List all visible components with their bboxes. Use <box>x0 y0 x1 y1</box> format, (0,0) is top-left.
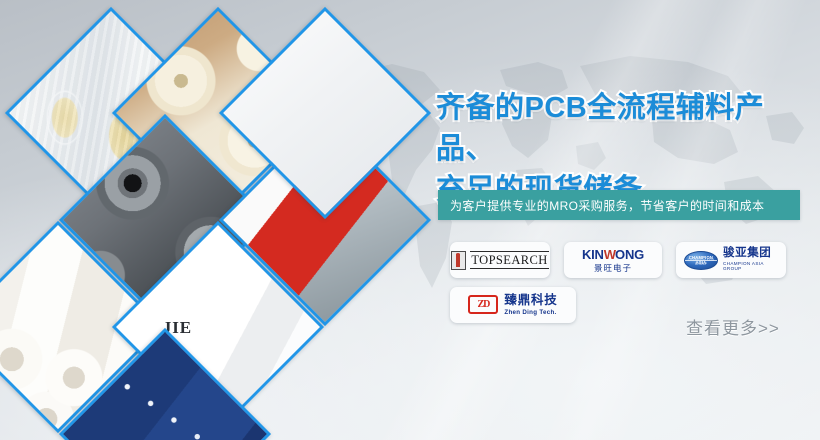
kinwong-chinese-name: 景旺电子 <box>582 264 644 273</box>
promo-banner: 齐备的PCB全流程辅料产品、 充足的现货储备 为客户提供专业的MRO采购服务，节… <box>0 0 820 440</box>
zhen-ding-mark-icon: ZD <box>468 295 498 314</box>
headline-line-1: 齐备的PCB全流程辅料产品、 <box>436 92 764 165</box>
banner-subtitle-text: 为客户提供专业的MRO采购服务，节省客户的时间和成本 <box>438 197 764 214</box>
globe-icon-bottom-text: CHAMPION ASIA GROUP <box>685 258 717 266</box>
zhen-ding-english-name: Zhen Ding Tech. <box>504 310 557 316</box>
kinwong-wordmark: KINWONG <box>582 248 644 261</box>
topsearch-mark-icon <box>451 251 466 270</box>
partner-logo-row-1: TOPSEARCH KINWONG 景旺电子 CHAMPION ASIA CHA… <box>450 242 800 278</box>
globe-icon: CHAMPION ASIA CHAMPION ASIA GROUP <box>684 251 718 270</box>
kinwong-wordmark-part-w: W <box>604 247 615 262</box>
kinwong-lockup: KINWONG 景旺电子 <box>582 248 644 272</box>
champion-asia-lockup: CHAMPION ASIA CHAMPION ASIA GROUP 骏亚集团 C… <box>684 248 778 271</box>
kinwong-wordmark-part-c: ONG <box>615 247 644 262</box>
champion-asia-chinese-name: 骏亚集团 <box>723 248 778 260</box>
partner-logo-kinwong[interactable]: KINWONG 景旺电子 <box>564 242 662 278</box>
partner-logo-zhen-ding[interactable]: ZD 臻鼎科技 Zhen Ding Tech. <box>450 287 576 323</box>
topsearch-wordmark: TOPSEARCH <box>470 251 548 269</box>
zhen-ding-chinese-name: 臻鼎科技 <box>504 294 557 307</box>
product-collage <box>0 0 430 440</box>
zhen-ding-lockup: ZD 臻鼎科技 Zhen Ding Tech. <box>468 294 557 316</box>
partner-logo-champion-asia[interactable]: CHAMPION ASIA CHAMPION ASIA GROUP 骏亚集团 C… <box>676 242 786 278</box>
view-more-link[interactable]: 查看更多>> <box>686 314 780 339</box>
topsearch-lockup: TOPSEARCH <box>451 251 548 270</box>
kinwong-wordmark-part-a: KIN <box>582 247 604 262</box>
banner-subtitle-bar: 为客户提供专业的MRO采购服务，节省客户的时间和成本 <box>438 190 800 220</box>
champion-asia-text: 骏亚集团 CHAMPION ASIA GROUP <box>723 248 778 271</box>
partner-logo-topsearch[interactable]: TOPSEARCH <box>450 242 550 278</box>
champion-asia-english-name: CHAMPION ASIA GROUP <box>723 262 778 271</box>
zhen-ding-text: 臻鼎科技 Zhen Ding Tech. <box>504 294 557 316</box>
